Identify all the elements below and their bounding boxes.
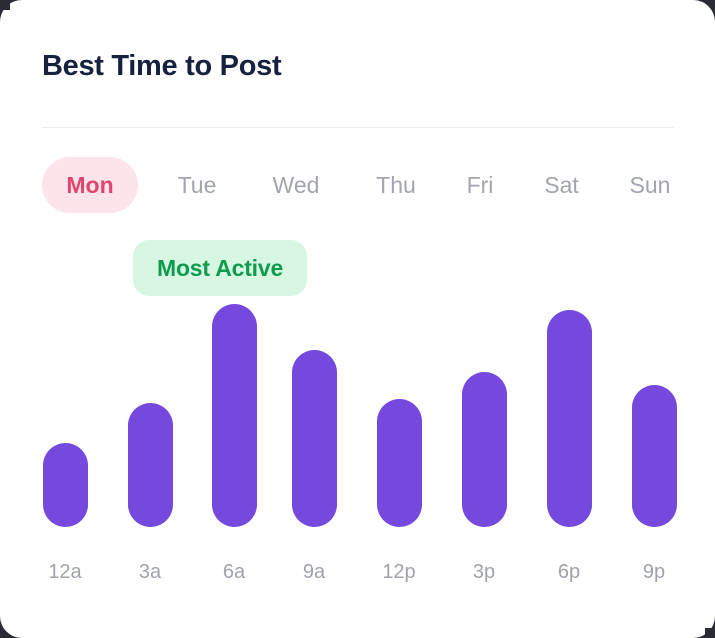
bar-12p[interactable] [377,399,422,527]
best-time-to-post-card: Best Time to Post Mon Tue Wed Thu Fri Sa… [0,0,715,638]
corner-decoration-top-left [0,0,10,10]
bar-3p[interactable] [462,372,507,527]
bar-9p[interactable] [632,385,677,527]
bar-6p[interactable] [547,310,592,527]
bar-6a[interactable] [212,304,257,527]
x-axis-label-12a: 12a [30,561,100,584]
x-axis-label-6a: 6a [199,561,269,584]
x-axis-label-9p: 9p [619,561,689,584]
x-axis-label-6p: 6p [534,561,604,584]
corner-decoration-bottom-right [705,628,715,638]
bar-3a[interactable] [128,403,173,527]
activity-bar-chart: 12a 3a 6a 9a 12p 3p 6p 9p [0,0,715,638]
x-axis-label-3p: 3p [449,561,519,584]
x-axis-label-9a: 9a [279,561,349,584]
bar-12a[interactable] [43,443,88,527]
x-axis-label-12p: 12p [364,561,434,584]
bar-9a[interactable] [292,350,337,527]
x-axis-label-3a: 3a [115,561,185,584]
